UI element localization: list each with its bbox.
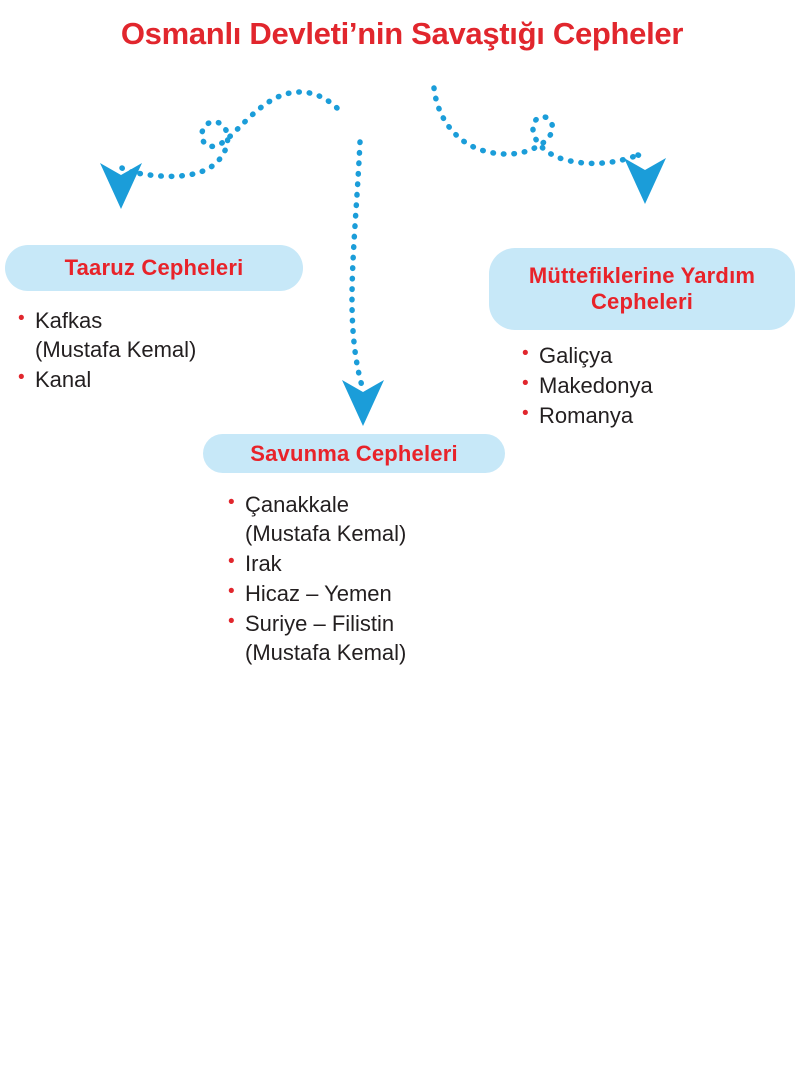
bullet-icon: • — [228, 490, 245, 516]
list-item: • Kafkas (Mustafa Kemal) — [18, 306, 298, 364]
bullet-icon: • — [228, 579, 245, 605]
list-item: • Irak — [228, 549, 528, 578]
arrow-to-muttefiklerine-yardim-icon — [434, 88, 666, 204]
diagram-canvas: Osmanlı Devleti’nin Savaştığı Cepheler — [0, 0, 804, 1082]
list-item-text: Kanal — [35, 365, 91, 394]
bullet-icon: • — [18, 306, 35, 332]
list-item-text: Galiçya — [539, 341, 612, 370]
list-item: • Hicaz – Yemen — [228, 579, 528, 608]
arrow-to-taaruz-icon — [100, 92, 337, 209]
bullet-icon: • — [228, 549, 245, 575]
list-item-text: Çanakkale (Mustafa Kemal) — [245, 490, 406, 548]
group-label-taaruz: Taaruz Cepheleri — [5, 245, 303, 291]
list-item-text: Hicaz – Yemen — [245, 579, 392, 608]
group-label-savunma: Savunma Cepheleri — [203, 434, 505, 473]
list-item: • Makedonya — [522, 371, 792, 400]
list-item: • Kanal — [18, 365, 298, 394]
bullet-icon: • — [522, 401, 539, 427]
list-item: • Galiçya — [522, 341, 792, 370]
arrow-to-savunma-icon — [342, 142, 384, 426]
page-title: Osmanlı Devleti’nin Savaştığı Cepheler — [0, 16, 804, 52]
group-list-taaruz: • Kafkas (Mustafa Kemal) • Kanal — [18, 306, 298, 395]
group-label-savunma-text: Savunma Cepheleri — [250, 441, 458, 467]
bullet-icon: • — [522, 371, 539, 397]
group-list-muttefiklerine-yardim: • Galiçya • Makedonya • Romanya — [522, 341, 792, 431]
list-item-text: Romanya — [539, 401, 633, 430]
bullet-icon: • — [522, 341, 539, 367]
group-label-muttefiklerine-yardim: Müttefiklerine Yardım Cepheleri — [489, 248, 795, 330]
list-item-text: Kafkas (Mustafa Kemal) — [35, 306, 196, 364]
group-label-muttefiklerine-yardim-text: Müttefiklerine Yardım Cepheleri — [529, 263, 755, 315]
list-item: • Romanya — [522, 401, 792, 430]
group-list-savunma: • Çanakkale (Mustafa Kemal) • Irak • Hic… — [228, 490, 528, 668]
list-item: • Çanakkale (Mustafa Kemal) — [228, 490, 528, 548]
list-item-text: Suriye – Filistin (Mustafa Kemal) — [245, 609, 406, 667]
bullet-icon: • — [228, 609, 245, 635]
list-item-text: Irak — [245, 549, 282, 578]
bullet-icon: • — [18, 365, 35, 391]
list-item-text: Makedonya — [539, 371, 653, 400]
list-item: • Suriye – Filistin (Mustafa Kemal) — [228, 609, 528, 667]
group-label-taaruz-text: Taaruz Cepheleri — [65, 255, 244, 281]
